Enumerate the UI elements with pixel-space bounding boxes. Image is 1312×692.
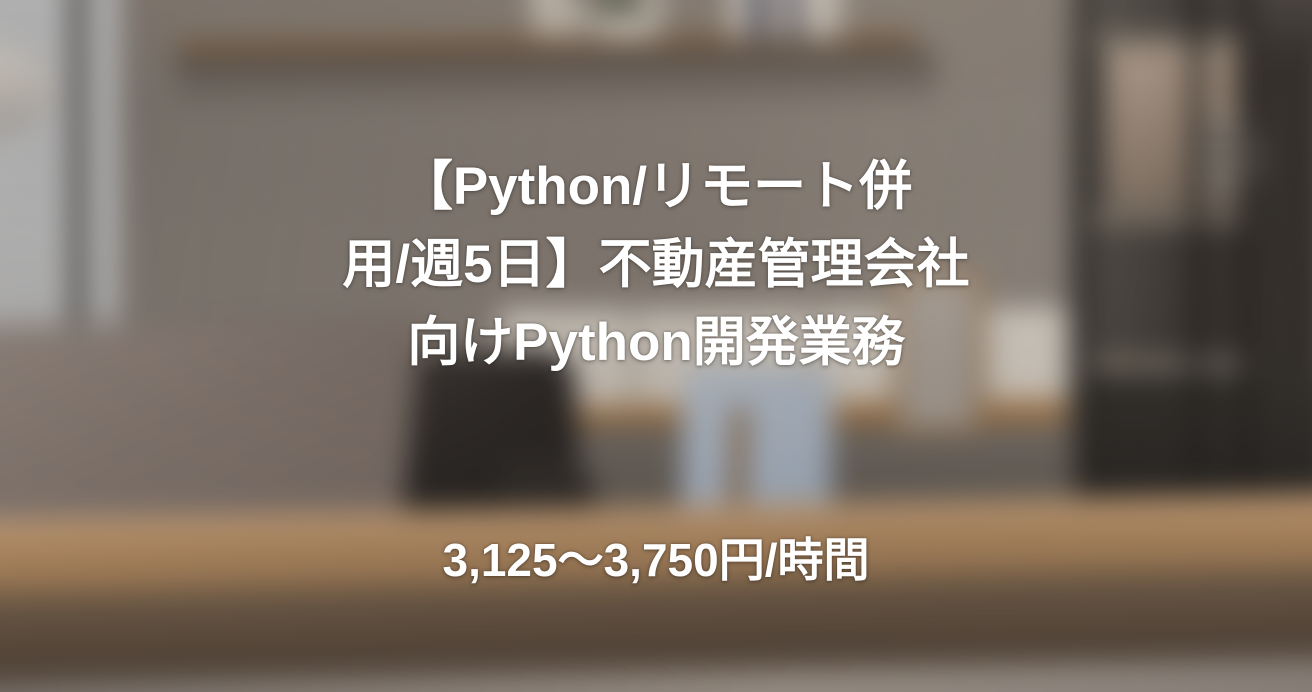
book-spine [789, 0, 799, 40]
book-spine [799, 0, 827, 40]
rack-post [1240, 0, 1251, 530]
background-photo [0, 0, 1312, 692]
book-spine [645, 0, 661, 40]
rack-post [1191, 0, 1202, 530]
background-blur-group [0, 0, 1312, 692]
rack-shelf [1086, 360, 1252, 370]
vase-small [564, 0, 586, 40]
book-spine [730, 0, 752, 40]
picture-frame-inner [902, 280, 974, 426]
rack-post [1079, 0, 1090, 530]
vase-tall [532, 0, 562, 38]
wall-shelf-shadow [176, 50, 936, 110]
potted-plant-pot [595, 14, 645, 40]
rack-shelf [1086, 36, 1252, 46]
job-banner: 【Python/リモート併 用/週5日】不動産管理会社 向けPython開発業務… [0, 0, 1312, 692]
book-spine [827, 0, 843, 40]
rack-shelf [1086, 214, 1252, 224]
book-spine [752, 0, 765, 40]
book-spine [765, 0, 789, 40]
